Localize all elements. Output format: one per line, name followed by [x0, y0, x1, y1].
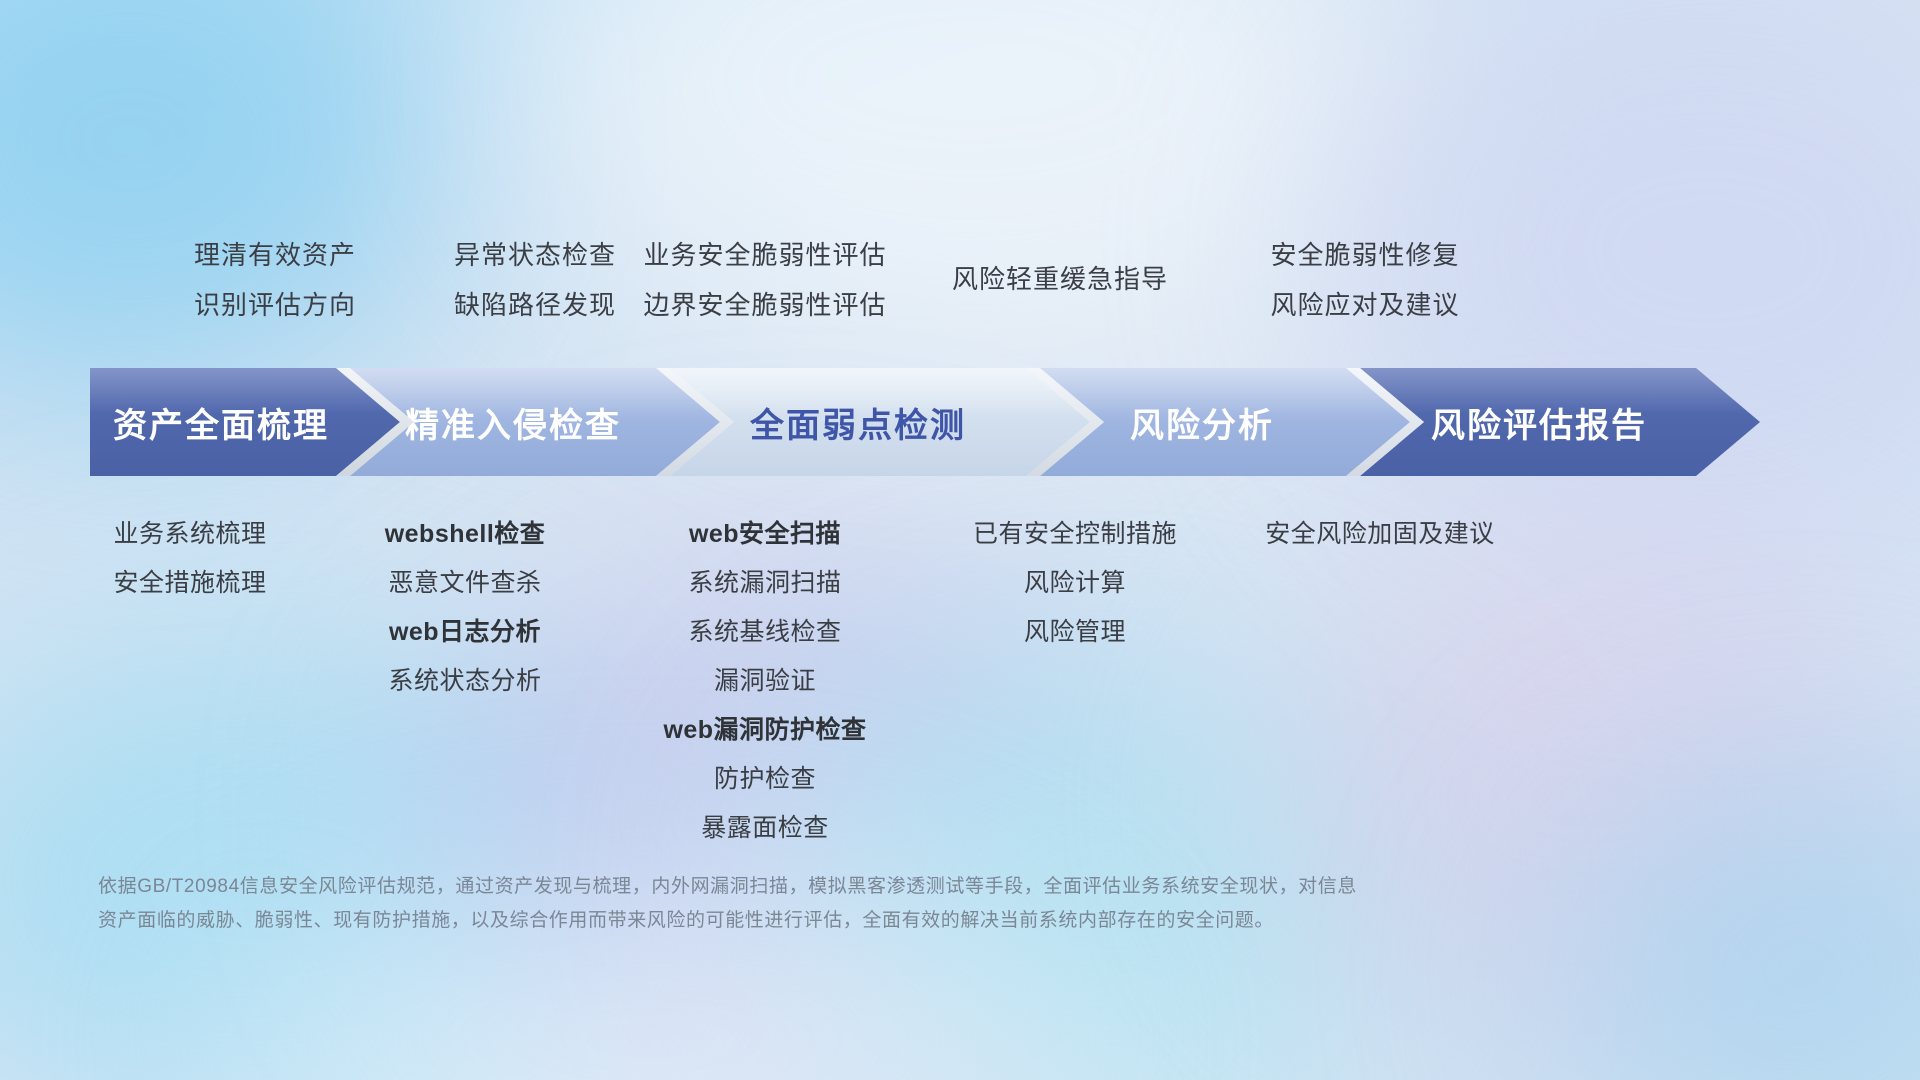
chevron-separator-1	[336, 368, 426, 476]
chevron-separator-3	[1026, 368, 1118, 476]
top-labels-stage-5: 安全脆弱性修复 风险应对及建议	[1130, 230, 1600, 330]
separator-shape	[1346, 368, 1438, 476]
bottom-list-stage-5: 安全风险加固及建议	[1145, 510, 1615, 559]
separator-shape	[656, 368, 748, 476]
list-item: web漏洞防护检查	[530, 706, 1000, 755]
top-label: 风险应对及建议	[1130, 280, 1600, 330]
chevron-label: 资产全面梳理	[113, 398, 329, 447]
process-chevron-banner: 资产全面梳理 精准入侵检查 全面弱点检测 风险	[90, 368, 1850, 476]
chevron-separator-2	[656, 368, 748, 476]
list-item: 风险计算	[840, 559, 1310, 608]
list-item: 暴露面检查	[530, 804, 1000, 853]
separator-shape	[336, 368, 426, 476]
list-item: 风险管理	[840, 608, 1310, 657]
top-label: 安全脆弱性修复	[1130, 230, 1600, 280]
list-item: 安全风险加固及建议	[1145, 510, 1615, 559]
chevron-separator-4	[1346, 368, 1438, 476]
footer-description: 依据GB/T20984信息安全风险评估规范，通过资产发现与梳理，内外网漏洞扫描，…	[98, 870, 1618, 938]
chevron-label: 全面弱点检测	[750, 398, 966, 447]
chevron-label: 精准入侵检查	[405, 398, 621, 447]
separator-shape	[1026, 368, 1118, 476]
top-labels-row: 理清有效资产 识别评估方向 异常状态检查 缺陷路径发现 业务安全脆弱性评估 边界…	[0, 0, 1920, 368]
list-item: 漏洞验证	[530, 657, 1000, 706]
chevron-label: 风险分析	[1130, 398, 1274, 447]
footer-line-2: 资产面临的威胁、脆弱性、现有防护措施，以及综合作用而带来风险的可能性进行评估，全…	[98, 904, 1618, 938]
list-item: 防护检查	[530, 755, 1000, 804]
footer-line-1: 依据GB/T20984信息安全风险评估规范，通过资产发现与梳理，内外网漏洞扫描，…	[98, 870, 1618, 904]
chevron-label: 风险评估报告	[1431, 398, 1647, 447]
